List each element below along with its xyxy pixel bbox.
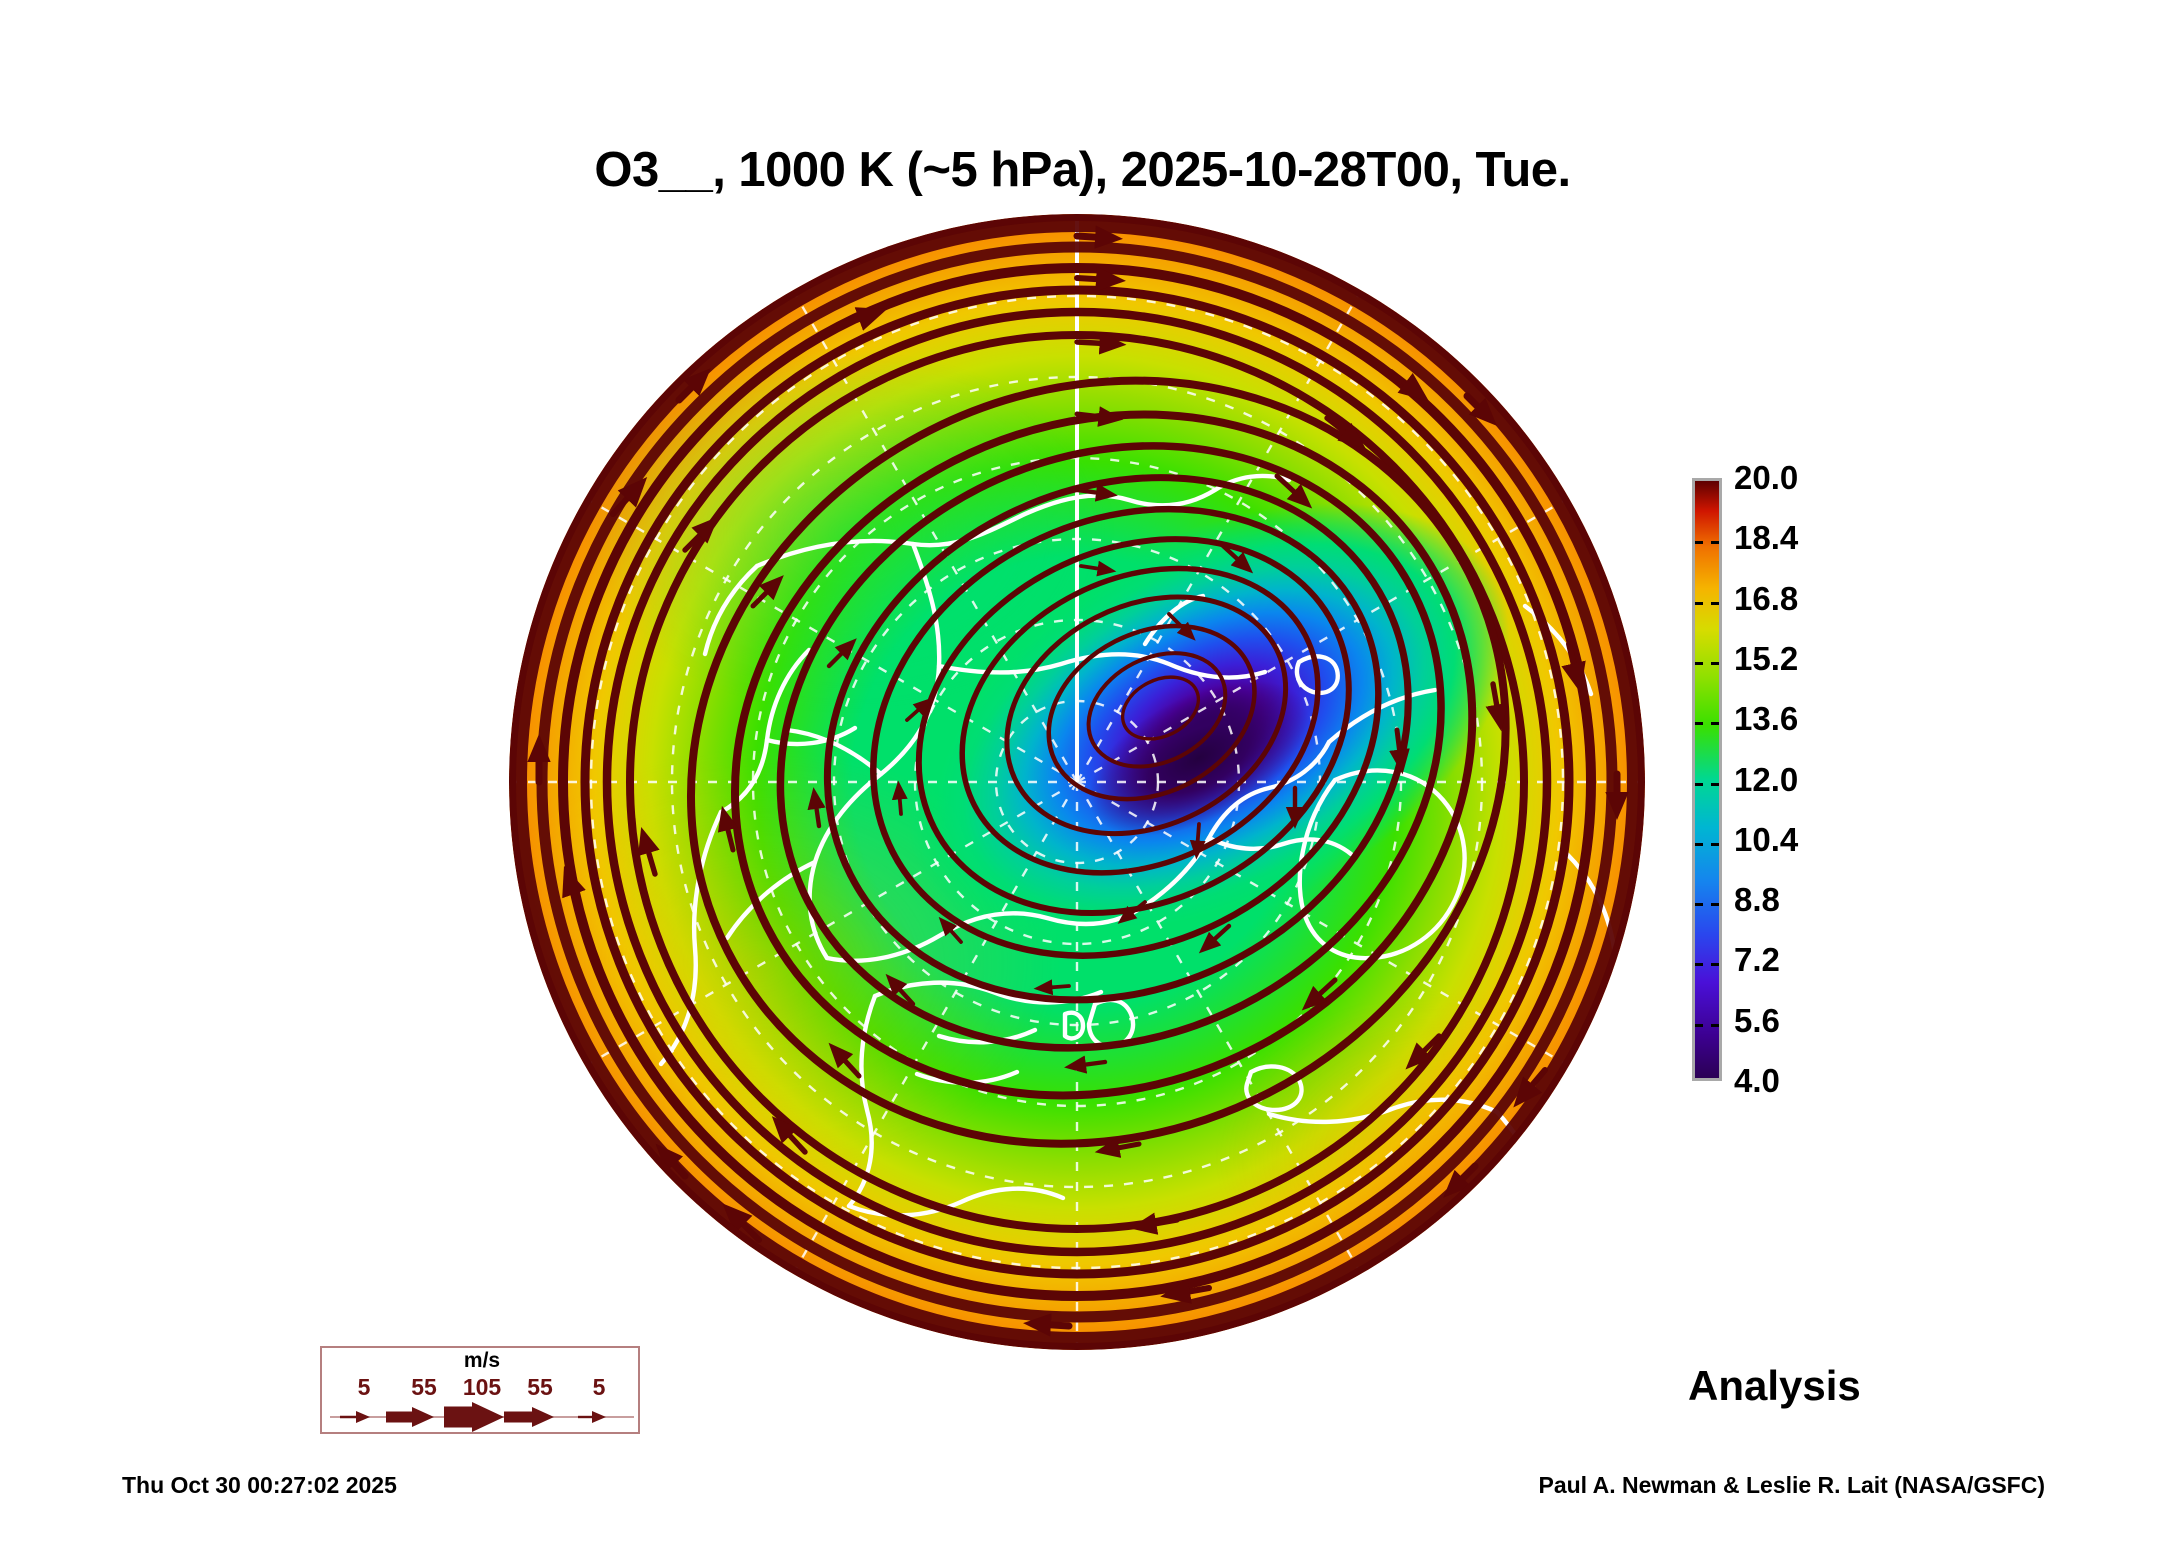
- author-credit: Paul A. Newman & Leslie R. Lait (NASA/GS…: [1538, 1472, 2045, 1499]
- wind-speed-legend: m/s 5 55 105 55 5: [320, 1346, 640, 1434]
- analysis-label: Analysis: [1688, 1362, 1861, 1410]
- colorbar-tick-7-2: 7.2: [1734, 941, 1780, 979]
- wind-legend-unit: m/s: [322, 1349, 642, 1373]
- wind-legend-value-55a: 55: [411, 1374, 437, 1401]
- colorbar-gradient: [1692, 478, 1722, 1081]
- page-title: O3__, 1000 K (~5 hPa), 2025-10-28T00, Tu…: [0, 142, 2165, 198]
- colorbar-tick-16-8: 16.8: [1734, 580, 1798, 618]
- wind-legend-value-5a: 5: [358, 1374, 371, 1401]
- map-disc: [509, 214, 1645, 1350]
- colorbar-tick-4: 4.0: [1734, 1062, 1780, 1100]
- colorbar-tick-20: 20.0: [1734, 459, 1798, 497]
- wind-legend-value-5b: 5: [593, 1374, 606, 1401]
- colorbar: 20.0 18.4 16.8 15.2 13.6 12.0 10.4 8.8 7…: [1692, 478, 1722, 1081]
- colorbar-tick-10-4: 10.4: [1734, 821, 1798, 859]
- map-overlays: [509, 214, 1645, 1350]
- colorbar-tick-5-6: 5.6: [1734, 1002, 1780, 1040]
- colorbar-tick-18-4: 18.4: [1734, 519, 1798, 557]
- wind-legend-arrows: [322, 1400, 642, 1434]
- colorbar-tick-13-6: 13.6: [1734, 700, 1798, 738]
- generation-timestamp: Thu Oct 30 00:27:02 2025: [122, 1472, 397, 1499]
- colorbar-tick-12: 12.0: [1734, 761, 1798, 799]
- wind-legend-value-105: 105: [463, 1374, 501, 1401]
- wind-legend-value-55b: 55: [527, 1374, 553, 1401]
- polar-map: [509, 214, 1645, 1350]
- colorbar-tick-15-2: 15.2: [1734, 640, 1798, 678]
- colorbar-tick-8-8: 8.8: [1734, 881, 1780, 919]
